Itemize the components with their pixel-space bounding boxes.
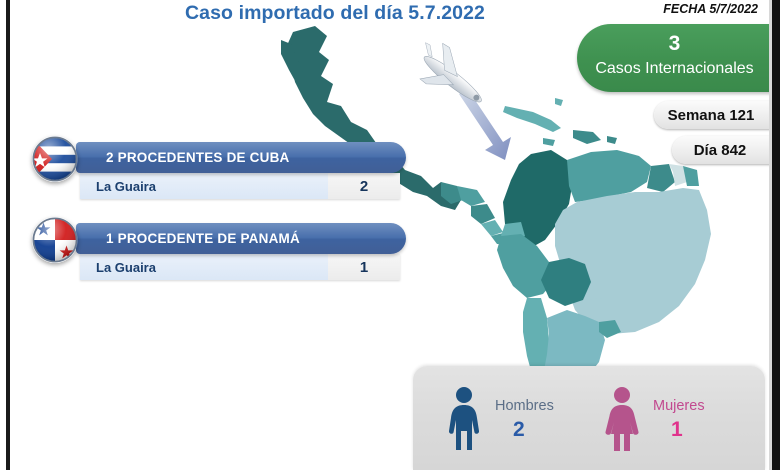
origin-card-header: 1 PROCEDENTE DE PANAMÁ — [76, 223, 406, 254]
origin-card-row: La Guaira 2 — [80, 173, 400, 199]
map-island-jamaica — [543, 138, 555, 146]
map-island-cuba — [503, 106, 561, 132]
origin-card-title: 1 PROCEDENTE DE PANAMÁ — [76, 231, 300, 246]
international-cases-count: 3 — [577, 24, 772, 58]
cuba-flag-icon — [32, 136, 78, 182]
infographic-root: Caso importado del día 5.7.2022 FECHA 5/… — [0, 0, 780, 470]
map-country-guyana — [647, 164, 675, 192]
origin-location: La Guaira — [80, 173, 328, 199]
male-icon — [445, 386, 483, 457]
map-country-frenchguiana — [683, 166, 699, 186]
international-cases-label: Casos Internacionales — [577, 58, 772, 80]
airplane-icon — [406, 34, 496, 117]
origin-location: La Guaira — [80, 254, 328, 280]
gender-men-text: Hombres 2 — [483, 386, 554, 444]
map-island-puertorico — [607, 136, 617, 144]
men-label: Hombres — [495, 396, 554, 416]
page-title: Caso importado del día 5.7.2022 — [110, 2, 560, 25]
origin-card-header: 2 PROCEDENTES DE CUBA — [76, 142, 406, 173]
origin-value: 1 — [328, 254, 400, 280]
gender-women-text: Mujeres 1 — [641, 386, 705, 444]
gender-panel: Hombres 2 Mujeres 1 — [413, 366, 765, 470]
map-country-honduras — [457, 186, 485, 206]
men-value: 2 — [495, 416, 554, 444]
women-value: 1 — [653, 416, 705, 444]
gender-women-cell: Mujeres 1 — [603, 386, 705, 457]
travel-arrow-icon — [459, 88, 511, 160]
left-border-strip — [6, 0, 10, 470]
map-island-bahamas — [555, 98, 563, 106]
right-border-strip — [772, 0, 780, 470]
origin-card-title: 2 PROCEDENTES DE CUBA — [76, 150, 289, 165]
panama-flag-icon — [32, 217, 78, 263]
origin-value: 2 — [328, 173, 400, 199]
week-pill: Semana 121 — [654, 101, 780, 129]
day-pill: Día 842 — [672, 136, 780, 164]
map-island-hispaniola — [573, 130, 601, 144]
map-country-nicaragua — [471, 204, 495, 224]
international-cases-banner: 3 Casos Internacionales — [577, 24, 780, 92]
map-country-brazil — [555, 188, 711, 334]
gender-men-cell: Hombres 2 — [445, 386, 554, 457]
female-icon — [603, 386, 641, 457]
map-country-bolivia — [541, 258, 591, 306]
fecha-label: FECHA 5/7/2022 — [663, 2, 758, 16]
origin-card-row: La Guaira 1 — [80, 254, 400, 280]
women-label: Mujeres — [653, 396, 705, 416]
